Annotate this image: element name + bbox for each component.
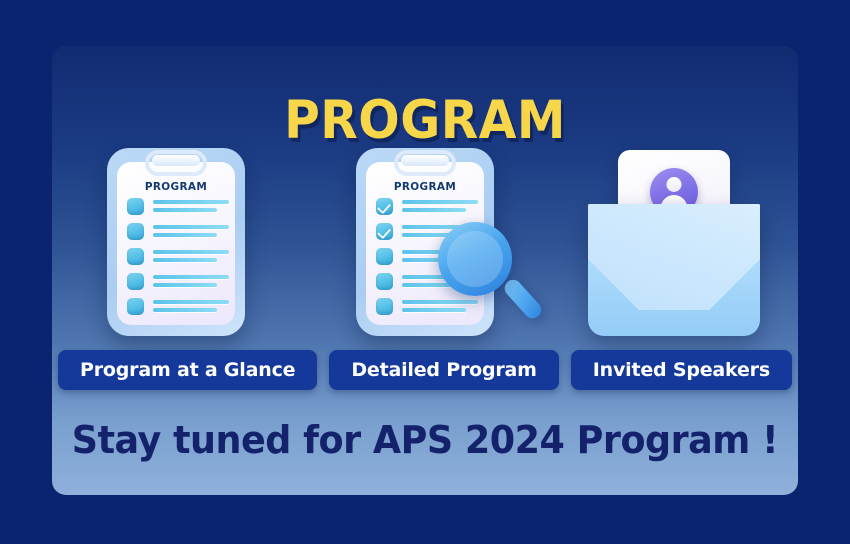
text-line: [153, 233, 217, 237]
checkbox-checked-icon: [376, 198, 393, 215]
checklist-row: [127, 248, 231, 273]
clipboard-clip-icon: [394, 150, 456, 176]
checkbox-icon: [127, 298, 144, 315]
clipboard-rows: [127, 198, 231, 323]
icon-cell-program-at-a-glance: PROGRAM: [71, 142, 281, 342]
checkbox-icon: [376, 273, 393, 290]
text-line: [153, 250, 229, 254]
row-lines: [153, 248, 231, 266]
poster-canvas: PROGRAM PROGRAM: [0, 0, 850, 544]
clipboard-checklist-icon: PROGRAM: [107, 148, 245, 336]
content-panel: PROGRAM PROGRAM: [52, 46, 798, 495]
clipboard-heading: PROGRAM: [111, 180, 242, 193]
checkbox-icon: [127, 198, 144, 215]
detailed-program-button[interactable]: Detailed Program: [329, 350, 558, 390]
magnifier-lens: [438, 222, 512, 296]
row-lines: [153, 298, 231, 316]
magnifier-handle: [501, 276, 544, 322]
clipboard-magnifier-icon: PROGRAM: [356, 148, 494, 336]
checklist-row: [127, 273, 231, 298]
icon-row: PROGRAM: [52, 142, 798, 342]
envelope-profile-card-icon: [588, 150, 760, 336]
row-lines: [153, 223, 231, 241]
clipboard-clip-bar: [152, 155, 200, 166]
text-line: [153, 300, 229, 304]
envelope-flap: [588, 204, 760, 310]
checkbox-icon: [127, 248, 144, 265]
checklist-row: [127, 298, 231, 323]
tagline-text: Stay tuned for APS 2024 Program !: [67, 418, 783, 462]
checkbox-icon: [376, 298, 393, 315]
text-line: [153, 275, 229, 279]
text-line: [153, 308, 217, 312]
text-line: [153, 225, 229, 229]
clipboard-clip-icon: [145, 150, 207, 176]
checkbox-icon: [376, 248, 393, 265]
checklist-row: [376, 198, 480, 223]
checkbox-checked-icon: [376, 223, 393, 240]
action-button-row: Program at a Glance Detailed Program Inv…: [52, 350, 798, 390]
row-lines: [402, 198, 480, 216]
icon-cell-detailed-program: PROGRAM: [320, 142, 530, 342]
checkbox-icon: [127, 223, 144, 240]
clipboard-clip-bar: [401, 155, 449, 166]
row-lines: [153, 198, 231, 216]
text-line: [153, 208, 217, 212]
invited-speakers-button[interactable]: Invited Speakers: [571, 350, 792, 390]
text-line: [402, 208, 466, 212]
text-line: [153, 200, 229, 204]
clipboard-heading: PROGRAM: [359, 180, 490, 193]
icon-cell-invited-speakers: [569, 142, 779, 342]
program-at-a-glance-button[interactable]: Program at a Glance: [58, 350, 317, 390]
row-lines: [153, 273, 231, 291]
checklist-row: [127, 198, 231, 223]
checklist-row: [127, 223, 231, 248]
text-line: [402, 200, 478, 204]
text-line: [153, 283, 217, 287]
text-line: [153, 258, 217, 262]
checkbox-icon: [127, 273, 144, 290]
magnifying-glass-icon: [438, 222, 534, 318]
